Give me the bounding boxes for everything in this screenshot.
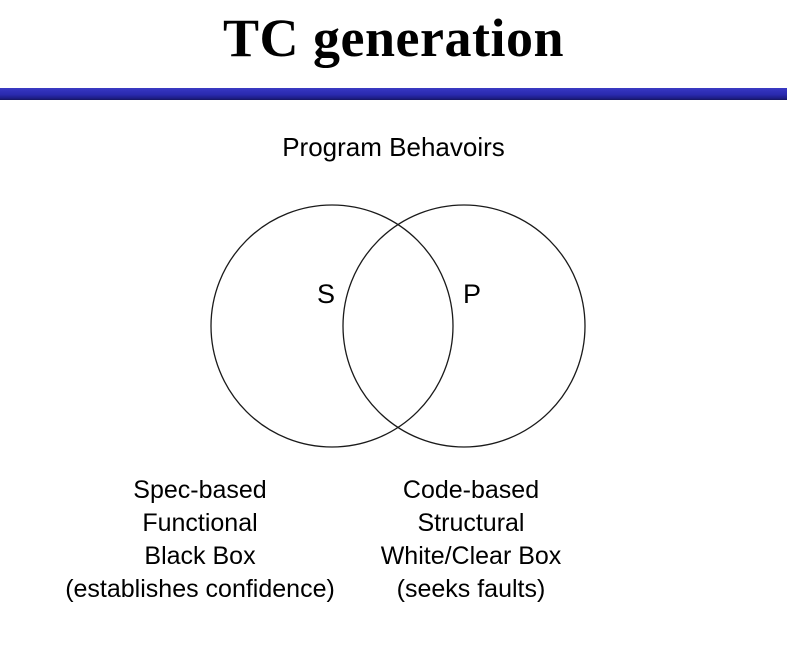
annotation-block: Spec-based Functional Black Box (establi… bbox=[0, 474, 787, 634]
venn-circle-s bbox=[211, 205, 453, 447]
annotation-column-code: Code-based Structural White/Clear Box (s… bbox=[291, 474, 651, 606]
annotation-code-line-1: Code-based bbox=[291, 474, 651, 507]
page-title: TC generation bbox=[0, 6, 787, 70]
annotation-code-line-4: (seeks faults) bbox=[291, 573, 651, 606]
venn-set-label-s: S bbox=[306, 281, 346, 308]
annotation-code-line-3: White/Clear Box bbox=[291, 540, 651, 573]
annotation-code-line-2: Structural bbox=[291, 507, 651, 540]
title-divider bbox=[0, 88, 787, 100]
venn-set-label-p: P bbox=[452, 281, 492, 308]
diagram-caption: Program Behavoirs bbox=[0, 131, 787, 163]
venn-circle-p bbox=[343, 205, 585, 447]
